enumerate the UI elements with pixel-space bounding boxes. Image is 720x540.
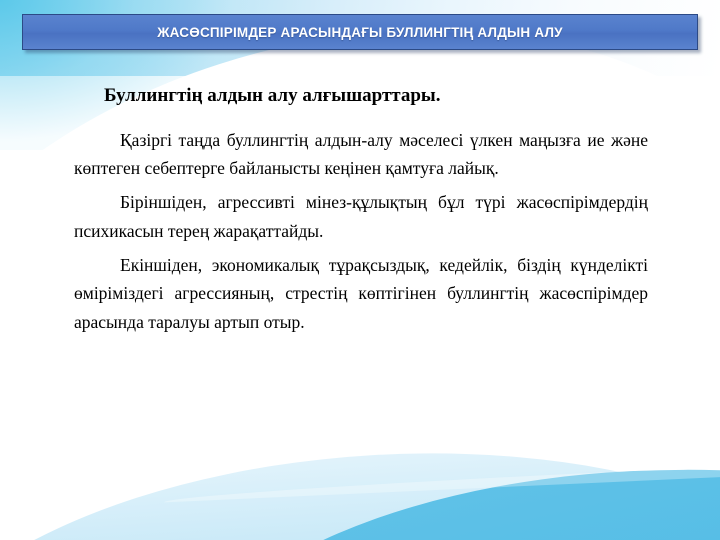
- bottom-wave-front-shape: [164, 448, 720, 540]
- paragraph-1: Қазіргі таңда буллингтің алдын-алу мәсел…: [74, 126, 648, 183]
- presentation-slide: ЖАСӨСПІРІМДЕР АРАСЫНДАҒЫ БУЛЛИНГТІҢ АЛДЫ…: [0, 0, 720, 540]
- content-heading: Буллингтің алдын алу алғышарттары.: [104, 84, 648, 108]
- slide-title-banner: ЖАСӨСПІРІМДЕР АРАСЫНДАҒЫ БУЛЛИНГТІҢ АЛДЫ…: [22, 14, 698, 50]
- bottom-wave-back-shape: [0, 426, 720, 540]
- slide-title-text: ЖАСӨСПІРІМДЕР АРАСЫНДАҒЫ БУЛЛИНГТІҢ АЛДЫ…: [157, 25, 562, 40]
- slide-content: Буллингтің алдын алу алғышарттары. Қазір…: [74, 84, 648, 336]
- paragraph-2: Біріншіден, агрессивті мінез-құлықтың бұ…: [74, 188, 648, 245]
- paragraph-3: Екіншіден, экономикалық тұрақсыздық, кед…: [74, 251, 648, 336]
